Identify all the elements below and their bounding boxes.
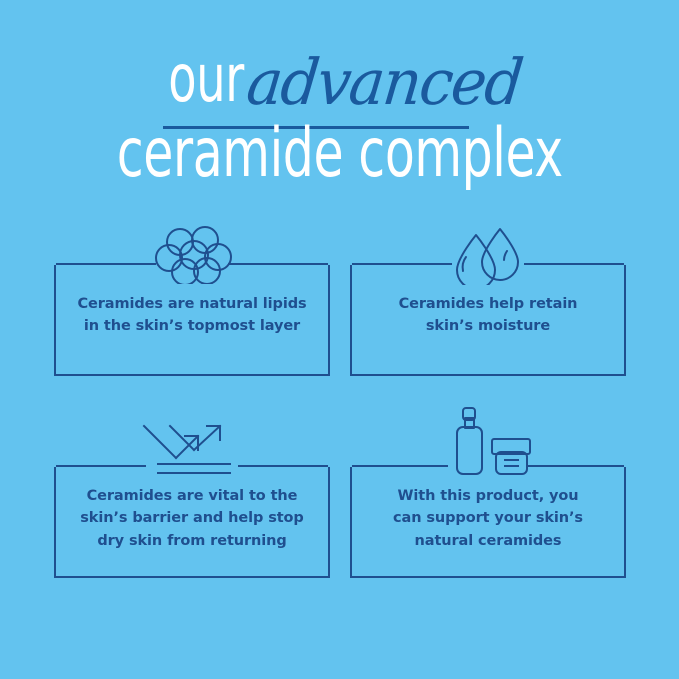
card-text-line-1: Ceramides help retain	[360, 293, 616, 315]
card-text-line-2: skin’s barrier and help stop	[64, 507, 320, 529]
card-top-border-left	[352, 263, 452, 265]
card-text-line-3: natural ceramides	[360, 530, 616, 552]
ceramide-complex-infographic: ouradvanced ceramide complex	[0, 0, 679, 679]
card-text-line-1: Ceramides are vital to the	[64, 485, 320, 507]
page-title: ouradvanced ceramide complex	[0, 46, 679, 192]
card-top-border	[56, 263, 328, 265]
card-text-line-1: With this product, you	[360, 485, 616, 507]
card-text-line-3: dry skin from returning	[64, 530, 320, 552]
card-text: Ceramides help retain skin’s moisture	[360, 293, 616, 338]
card-top-border-left	[56, 465, 146, 467]
card-top-border	[352, 465, 624, 467]
headline-word-advanced: advanced	[244, 51, 525, 114]
info-card-ceramides-retain-moisture: Ceramides help retain skin’s moisture	[350, 265, 626, 376]
card-text: Ceramides are natural lipids in the skin…	[64, 293, 320, 338]
card-text: With this product, you can support your …	[360, 485, 616, 552]
info-card-ceramides-skin-barrier: Ceramides are vital to the skin’s barrie…	[54, 467, 330, 578]
card-text: Ceramides are vital to the skin’s barrie…	[64, 485, 320, 552]
card-text-line-1: Ceramides are natural lipids	[64, 293, 320, 315]
card-top-border	[56, 465, 328, 467]
headline-line-one: ouradvanced	[0, 46, 679, 116]
card-top-border-left	[56, 263, 156, 265]
card-top-border-right	[228, 263, 328, 265]
headline-line-two: ceramide complex	[0, 120, 679, 192]
card-top-border	[352, 263, 624, 265]
card-top-border-left	[352, 465, 448, 467]
headline-word-our: our	[168, 46, 244, 112]
info-card-support-natural-ceramides: With this product, you can support your …	[350, 467, 626, 578]
card-text-line-2: skin’s moisture	[360, 315, 616, 337]
card-top-border-right	[528, 465, 624, 467]
card-top-border-right	[238, 465, 328, 467]
card-text-line-2: can support your skin’s	[360, 507, 616, 529]
card-text-line-2: in the skin’s topmost layer	[64, 315, 320, 337]
headline-ceramide-complex: ceramide complex	[116, 120, 562, 188]
info-card-ceramides-natural-lipids: Ceramides are natural lipids in the skin…	[54, 265, 330, 376]
card-top-border-right	[524, 263, 624, 265]
